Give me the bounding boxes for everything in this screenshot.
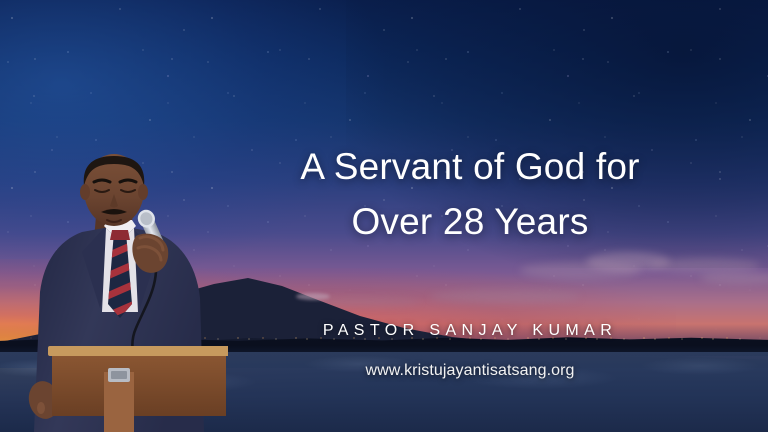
pastor-photo xyxy=(8,132,228,432)
page-title: A Servant of God for Over 28 Years xyxy=(200,140,740,250)
promo-banner: A Servant of God for Over 28 Years PASTO… xyxy=(0,0,768,432)
lenticular-cloud xyxy=(296,293,330,300)
speaker-name: PASTOR SANJAY KUMAR xyxy=(200,322,740,340)
website-url[interactable]: www.kristujayantisatsang.org xyxy=(200,362,740,380)
